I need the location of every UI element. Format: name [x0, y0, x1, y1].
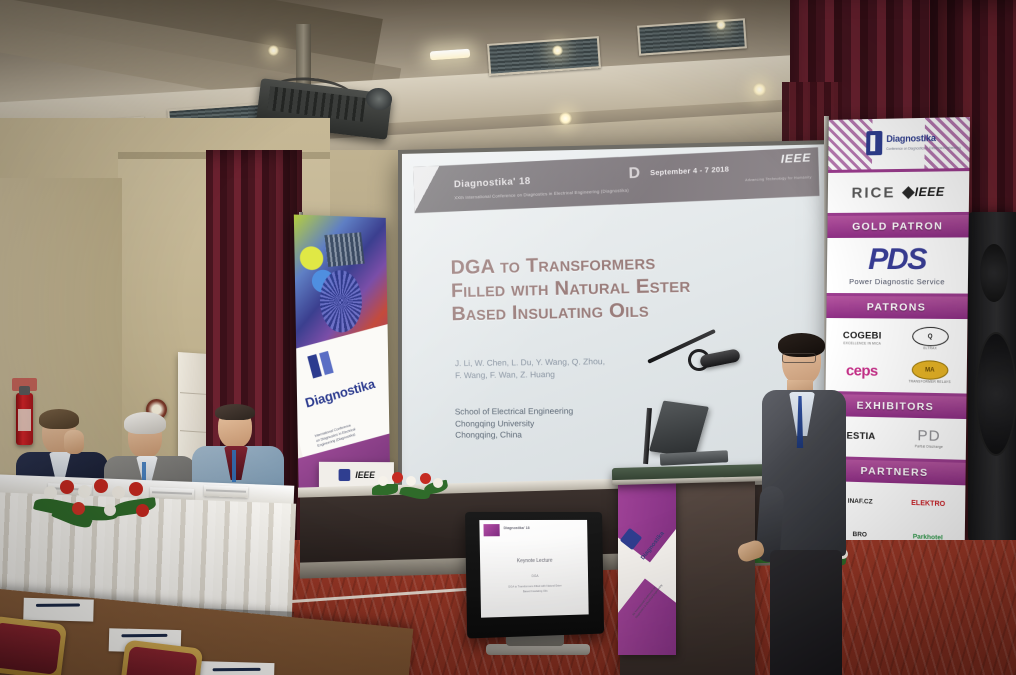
head-table-floral-arrangement — [34, 474, 162, 526]
lectern-top-surface — [612, 464, 772, 484]
sponsor-logo-eltrax: Q ELTRAX — [898, 325, 962, 354]
panelist-hair — [124, 412, 166, 434]
sponsor-section-heading-patrons: PATRONS — [826, 296, 967, 319]
confidence-monitor[interactable]: Diagnostika' 18 Keynote Lecture DGA DGA … — [465, 512, 604, 639]
sponsor-org-logo-row: RICE IEEE — [828, 171, 970, 216]
ieee-logo-group: IEEE — [903, 185, 944, 200]
pds-tagline: Power Diagnostic Service — [832, 277, 963, 286]
panelist-hair — [39, 409, 79, 429]
footer-mark-icon — [339, 469, 351, 481]
lectern-branding-panel: Diagnostika XX International Conference … — [618, 483, 676, 655]
monitor-slide-accent — [483, 524, 499, 536]
panelist-3 — [192, 406, 284, 492]
sponsor-logo-pd: PD Partial Discharge — [897, 424, 961, 454]
eltrax-oval-icon: Q — [912, 327, 949, 347]
pen — [121, 634, 167, 637]
sponsor-banner-header: Diagnostika Conference on Diagnostics in… — [828, 117, 970, 173]
ieee-logo-icon: IEEE — [915, 185, 945, 200]
delegate-chair — [0, 616, 67, 675]
floor-loudspeaker — [968, 212, 1016, 542]
notepad — [23, 598, 94, 622]
glasses-icon — [782, 353, 816, 363]
lanyard-icon — [232, 450, 236, 482]
stage-floral-arrangement — [370, 470, 450, 502]
sponsor-logo-elektro: ELEKTRO — [896, 489, 960, 520]
ceiling-downlight — [753, 83, 766, 96]
ma-oval-icon: MA — [911, 360, 948, 380]
conference-room-photo: Diagnostika' 18 XXth International Confe… — [0, 0, 1016, 675]
ieee-diamond-icon — [902, 186, 915, 199]
monitor-slide-header: Diagnostika' 18 — [504, 526, 530, 530]
slide-header-bar: Diagnostika' 18 XXth International Confe… — [414, 148, 821, 214]
pds-logo-icon: PDS — [832, 245, 963, 276]
rice-logo-icon: RICE — [851, 184, 895, 202]
diagnostika-logo-icon — [866, 131, 882, 155]
slide-conference-dates: September 4 - 7 2018 — [650, 167, 729, 178]
presenting-speaker — [756, 336, 860, 675]
gold-patron-panel: PDS Power Diagnostic Service — [827, 237, 969, 296]
pen — [213, 668, 261, 671]
ieee-tagline: Advancing Technology for Humanity — [745, 175, 812, 182]
slide-title: DGA to Transformers Filled with Natural … — [451, 246, 816, 325]
diagnostika-mark-letter: D — [629, 165, 641, 181]
slide-conference-subtitle: XXth International Conference on Diagnos… — [455, 188, 630, 201]
pen — [36, 603, 80, 606]
monitor-slide-title: Keynote Lecture — [480, 558, 588, 566]
left-rollup-banner: Diagnostika International Conference on … — [294, 215, 390, 493]
diagnostika-swoosh-icon — [414, 165, 457, 214]
monitor-screen: Diagnostika' 18 Keynote Lecture DGA DGA … — [479, 520, 588, 618]
slide-affiliation: School of Electrical Engineering Chongqi… — [455, 404, 757, 441]
ceiling-downlight — [268, 45, 279, 56]
panelist-hand — [64, 430, 84, 454]
slide-conference-name: Diagnostika' 18 — [454, 176, 531, 191]
ceiling-downlight — [716, 20, 726, 30]
monitor-body-line-2: Based Insulating Oils — [487, 589, 582, 596]
speaker-trousers — [770, 550, 842, 675]
sponsor-logo-ma: MA TRANSFORMER RELAYS — [898, 358, 962, 387]
diagnostika-mark-icon: D — [629, 161, 657, 194]
panelist-hair — [215, 404, 255, 420]
slide-affiliation-line-3: Chongqing, China — [455, 429, 756, 442]
monitor-slide-body: DGA to Transformers Filled with Natural … — [487, 584, 582, 595]
monitor-slide-subtitle: DGA — [480, 573, 588, 579]
ieee-logo-icon: IEEE — [781, 152, 812, 166]
ceiling-downlight — [552, 45, 563, 56]
ceiling-downlight — [559, 112, 572, 125]
name-plate — [204, 485, 248, 498]
sponsor-section-heading-gold: GOLD PATRON — [827, 215, 968, 238]
sponsor-banner-logo-name: Diagnostika — [886, 133, 936, 144]
